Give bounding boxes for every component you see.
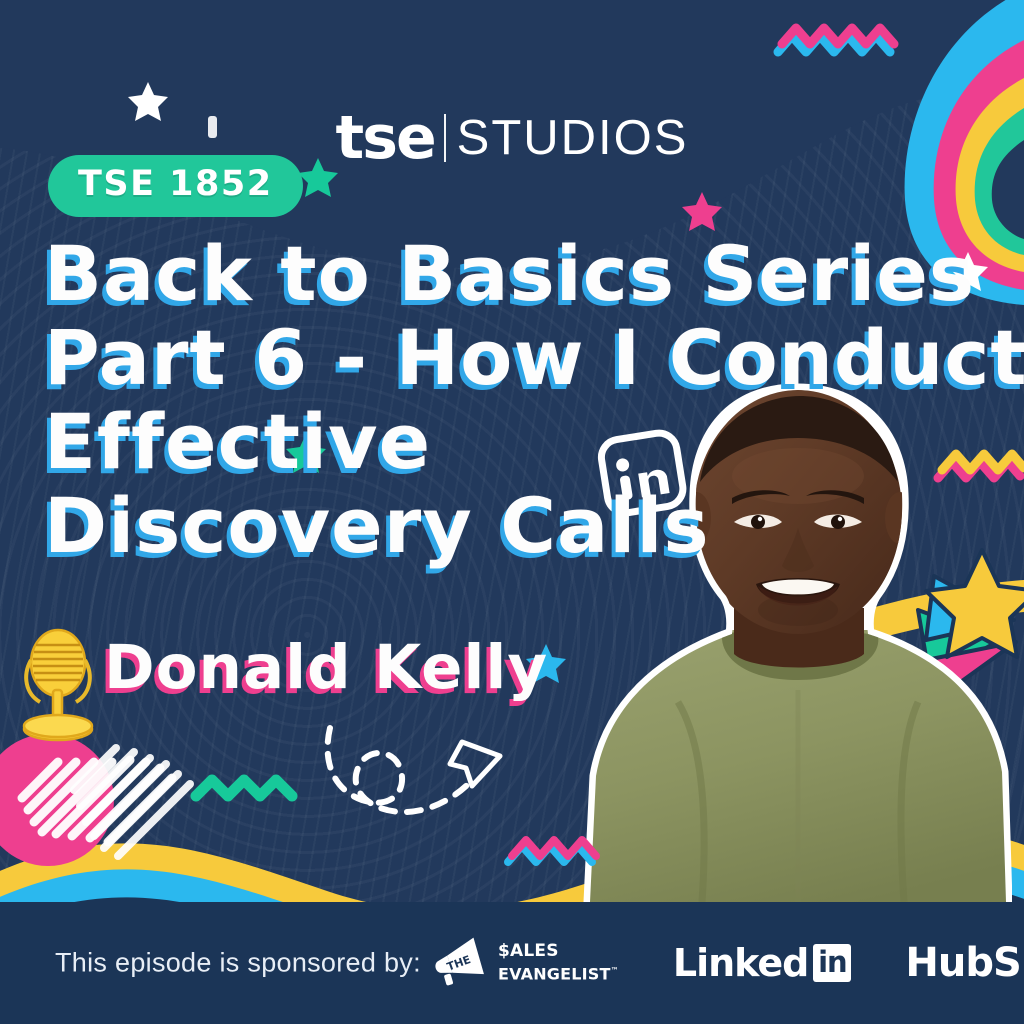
se-line-2: EVANGELIST™	[498, 961, 619, 983]
linkedin-wordmark: Linked	[673, 941, 809, 985]
trademark-mark: ™	[611, 966, 619, 975]
sponsor-linkedin-logo[interactable]: Linked in	[673, 941, 852, 985]
host-name: Donald Kelly	[104, 632, 548, 703]
logo-divider	[444, 114, 446, 162]
linkedin-in-box: in	[813, 944, 851, 982]
sponsor-hubspot-logo[interactable]: HubSp t	[905, 940, 1024, 986]
logo-studios-word: STUDIOS	[457, 114, 689, 163]
hubspot-wordmark-part1: HubSp	[905, 940, 1024, 986]
title-line-3: Effective	[44, 400, 1004, 484]
logo-tse-word: tse	[336, 108, 435, 168]
title-line-2: Part 6 - How I Conduct	[44, 316, 1004, 400]
sponsored-by-label: This episode is sponsored by:	[55, 948, 421, 979]
episode-title: Back to Basics Series Part 6 - How I Con…	[44, 232, 1004, 568]
podcast-cover-art: tse STUDIOS TSE 1852 Back to Basics Seri…	[0, 0, 1024, 1024]
tse-studios-logo: tse STUDIOS	[0, 108, 1024, 168]
sponsor-logo-row: THE $ALES EVANGELIST™ Linked in HubSp	[430, 936, 1024, 990]
megaphone-icon: THE	[430, 936, 492, 990]
sponsor-footer: This episode is sponsored by: THE $ALES …	[0, 902, 1024, 1024]
se-line-1: $ALES	[498, 942, 619, 961]
sponsor-sales-evangelist-logo[interactable]: THE $ALES EVANGELIST™	[430, 936, 619, 990]
title-line-4: Discovery Calls	[44, 484, 1004, 568]
sales-evangelist-wordmark: $ALES EVANGELIST™	[498, 942, 619, 983]
title-line-1: Back to Basics Series	[44, 232, 1004, 316]
